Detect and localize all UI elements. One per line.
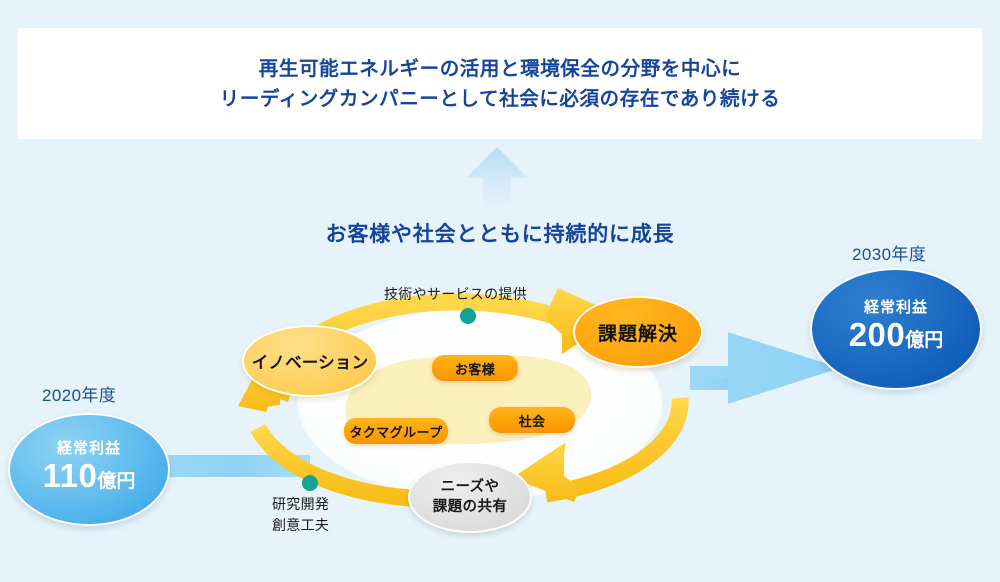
caption-technology-provision: 技術やサービスの提供 [384, 284, 527, 305]
teal-dot-icon [302, 475, 318, 491]
pill-society-label: 社会 [519, 411, 546, 430]
year-label-goal: 2030年度 [852, 240, 926, 265]
cycle-node-needs-line2: 課題の共有 [433, 499, 508, 515]
caption-research-development-line2: 創意工夫 [272, 515, 329, 536]
teal-dot-icon [460, 308, 476, 324]
cycle-node-needs-line1: ニーズや [441, 479, 500, 495]
pill-customer: お客様 [432, 355, 518, 381]
vision-line-1: 再生可能エネルギーの活用と環境保全の分野を中心に [259, 54, 741, 84]
profit-metric-start: 経常利益 [57, 439, 121, 458]
cycle-node-solution: 課題解決 [573, 296, 703, 368]
profit-amount-unit-goal: 億円 [905, 330, 943, 351]
cycle-node-innovation: イノベーション [242, 325, 378, 397]
profit-amount-value-goal: 200 [849, 316, 906, 353]
cycle-node-solution-label: 課題解決 [598, 319, 678, 346]
profit-amount-value-start: 110 [43, 457, 98, 494]
caption-research-development: 研究開発 創意工夫 [272, 494, 329, 536]
cycle-node-innovation-label: イノベーション [252, 349, 369, 373]
growth-caption: お客様や社会とともに持続的に成長 [0, 218, 1000, 248]
caption-research-development-line1: 研究開発 [272, 494, 329, 515]
vision-line-2: リーディングカンパニーとして社会に必須の存在であり続ける [220, 84, 781, 114]
cycle-node-needs-label: ニーズや 課題の共有 [433, 477, 508, 517]
vision-banner: 再生可能エネルギーの活用と環境保全の分野を中心に リーディングカンパニーとして社… [18, 28, 982, 139]
pill-takuma-group-label: タクマグループ [349, 422, 442, 441]
profit-ellipse-start: 経常利益 110億円 [8, 413, 170, 526]
cycle-node-needs: ニーズや 課題の共有 [408, 461, 532, 533]
pill-customer-label: お客様 [455, 359, 495, 378]
year-label-start: 2020年度 [42, 381, 116, 406]
profit-ellipse-goal: 経常利益 200億円 [810, 268, 982, 390]
arrow-up-icon [466, 147, 528, 213]
profit-amount-unit-start: 億円 [97, 471, 135, 492]
diagram-canvas: 再生可能エネルギーの活用と環境保全の分野を中心に リーディングカンパニーとして社… [0, 0, 1000, 582]
pill-takuma-group: タクマグループ [344, 418, 448, 444]
profit-amount-start: 110億円 [43, 458, 136, 501]
caption-technology-provision-line1: 技術やサービスの提供 [384, 284, 527, 305]
profit-metric-goal: 経常利益 [864, 298, 928, 317]
profit-amount-goal: 200億円 [849, 317, 944, 360]
pill-society: 社会 [489, 407, 575, 433]
